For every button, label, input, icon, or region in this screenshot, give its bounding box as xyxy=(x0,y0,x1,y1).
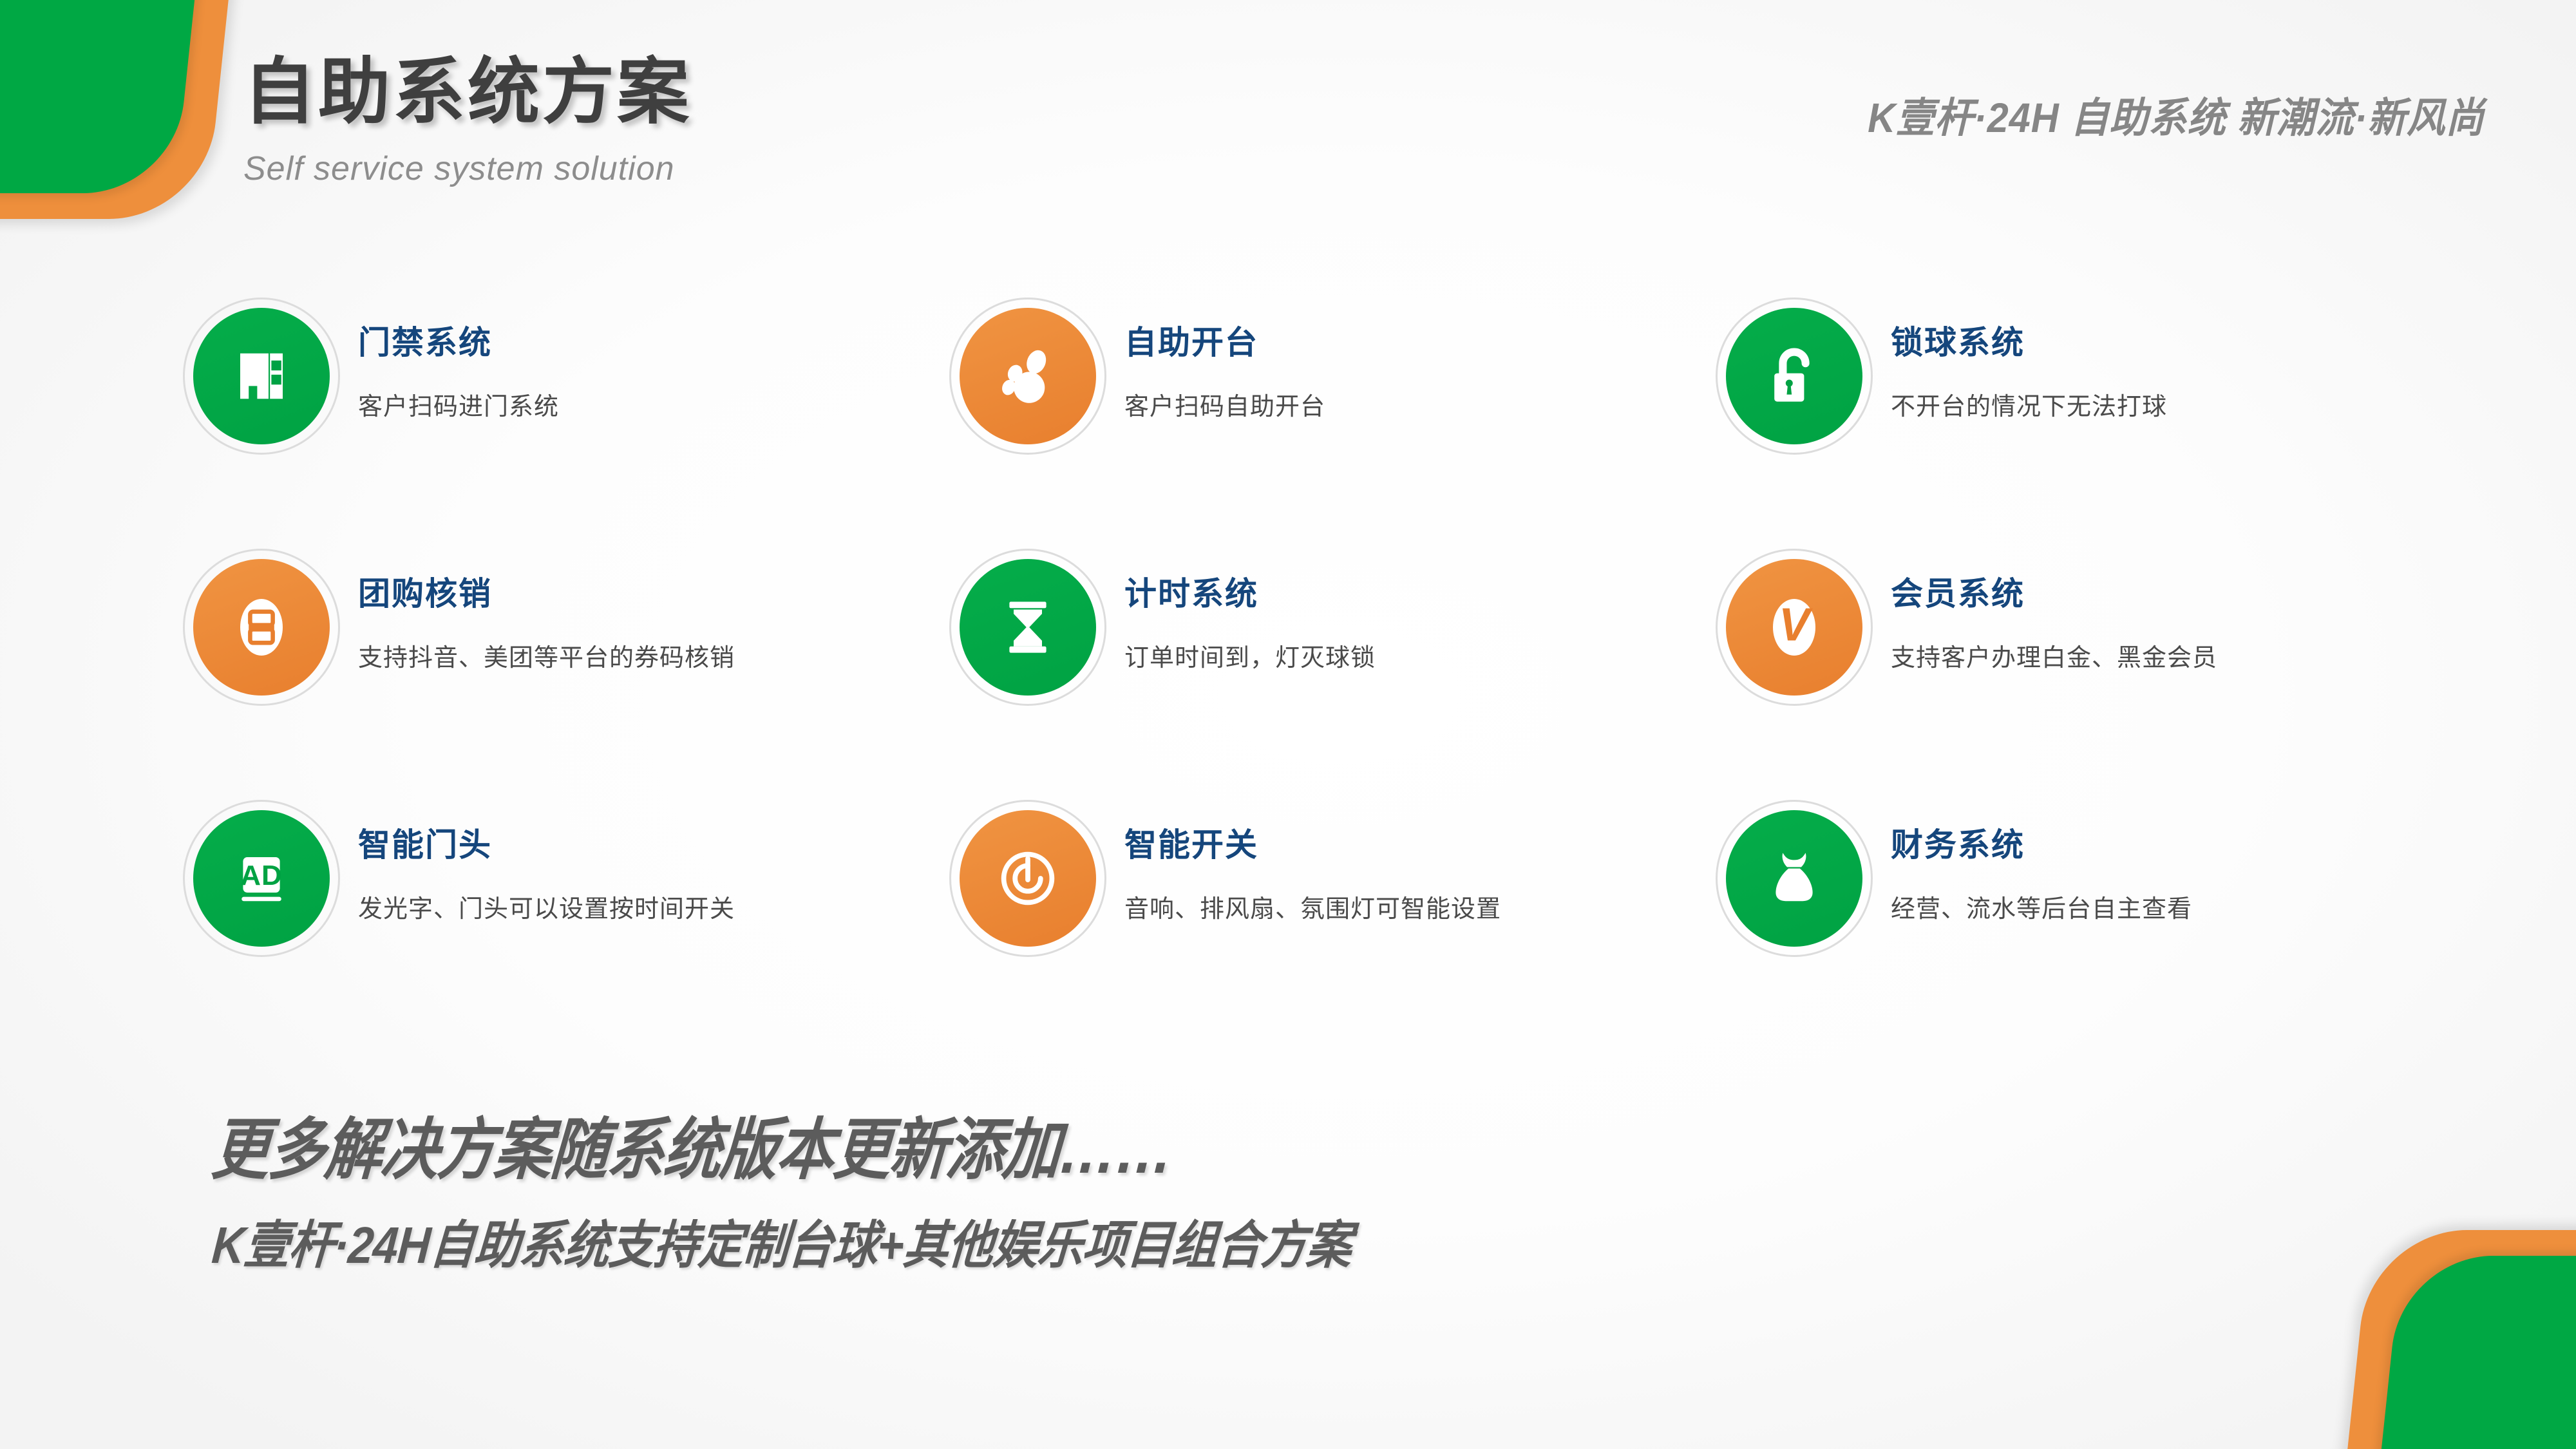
power-switch-icon xyxy=(960,810,1096,947)
header-tagline: K壹杆·24H 自助系统 新潮流·新风尚 xyxy=(1868,85,2485,144)
feature-description: 支持客户办理白金、黑金会员 xyxy=(1891,638,2217,673)
feature-description: 支持抖音、美团等平台的券码核销 xyxy=(358,638,735,673)
coupon-redeem-icon xyxy=(193,559,330,696)
feature-card[interactable]: 门禁系统 客户扫码进门系统 xyxy=(193,303,960,554)
feature-card[interactable]: AD 智能门头 发光字、门头可以设置按时间开关 xyxy=(193,805,960,1056)
feature-title: 团购核销 xyxy=(358,568,735,614)
feature-card[interactable]: 自助开台 客户扫码自助开台 xyxy=(960,303,1726,554)
feature-title: 智能门头 xyxy=(358,819,735,866)
feature-grid: 门禁系统 客户扫码进门系统 自助开台 客户扫码自助开台 xyxy=(193,303,2486,1056)
page-header: 自助系统方案 Self service system solution K壹杆·… xyxy=(0,0,2576,232)
feature-title: 财务系统 xyxy=(1891,819,2192,866)
vip-letter: V xyxy=(1726,599,1862,652)
slide-root: 自助系统方案 Self service system solution K壹杆·… xyxy=(0,0,2576,1449)
feature-title: 自助开台 xyxy=(1124,317,1325,363)
feature-card[interactable]: 计时系统 订单时间到，灯灭球锁 xyxy=(960,554,1726,805)
page-subtitle: Self service system solution xyxy=(243,149,675,188)
feature-description: 客户扫码进门系统 xyxy=(358,386,559,422)
feature-card[interactable]: 团购核销 支持抖音、美团等平台的券码核销 xyxy=(193,554,960,805)
feature-text: 财务系统 经营、流水等后台自主查看 xyxy=(1891,805,2192,924)
feature-title: 计时系统 xyxy=(1124,568,1376,614)
feature-title: 门禁系统 xyxy=(358,317,559,363)
feature-title: 锁球系统 xyxy=(1891,317,2167,363)
feature-description: 发光字、门头可以设置按时间开关 xyxy=(358,889,735,924)
feature-card[interactable]: V 会员系统 支持客户办理白金、黑金会员 xyxy=(1726,554,2492,805)
feature-text: 团购核销 支持抖音、美团等平台的券码核销 xyxy=(358,554,735,673)
money-bag-icon xyxy=(1726,810,1862,947)
feature-title: 会员系统 xyxy=(1891,568,2217,614)
feature-title: 智能开关 xyxy=(1124,819,1501,866)
footer-subheadline: K壹杆·24H自助系统支持定制台球+其他娱乐项目组合方案 xyxy=(210,1204,1916,1278)
feature-text: 门禁系统 客户扫码进门系统 xyxy=(358,303,559,422)
feature-text: 计时系统 订单时间到，灯灭球锁 xyxy=(1124,554,1376,673)
vip-member-icon: V xyxy=(1726,559,1862,696)
feature-card[interactable]: 锁球系统 不开台的情况下无法打球 xyxy=(1726,303,2492,554)
feature-text: 会员系统 支持客户办理白金、黑金会员 xyxy=(1891,554,2217,673)
feature-description: 经营、流水等后台自主查看 xyxy=(1891,889,2192,924)
unlock-padlock-icon xyxy=(1726,308,1862,444)
footer-banner: 更多解决方案随系统版本更新添加…… K壹杆·24H自助系统支持定制台球+其他娱乐… xyxy=(213,1095,2145,1278)
feature-description: 不开台的情况下无法打球 xyxy=(1891,386,2167,422)
feature-text: 自助开台 客户扫码自助开台 xyxy=(1124,303,1325,422)
feature-text: 智能开关 音响、排风扇、氛围灯可智能设置 xyxy=(1124,805,1501,924)
feature-card[interactable]: 财务系统 经营、流水等后台自主查看 xyxy=(1726,805,2492,1056)
footer-headline: 更多解决方案随系统版本更新添加…… xyxy=(209,1095,1877,1192)
hourglass-icon xyxy=(960,559,1096,696)
feature-description: 客户扫码自助开台 xyxy=(1124,386,1325,422)
page-title: 自助系统方案 xyxy=(243,33,692,138)
ad-signboard-icon: AD xyxy=(193,810,330,947)
feature-description: 音响、排风扇、氛围灯可智能设置 xyxy=(1124,889,1501,924)
ad-letters: AD xyxy=(193,860,330,892)
feature-text: 锁球系统 不开台的情况下无法打球 xyxy=(1891,303,2167,422)
feature-text: 智能门头 发光字、门头可以设置按时间开关 xyxy=(358,805,735,924)
feature-card[interactable]: 智能开关 音响、排风扇、氛围灯可智能设置 xyxy=(960,805,1726,1056)
billiard-balls-icon xyxy=(960,308,1096,444)
gate-entry-icon xyxy=(193,308,330,444)
feature-description: 订单时间到，灯灭球锁 xyxy=(1124,638,1376,673)
